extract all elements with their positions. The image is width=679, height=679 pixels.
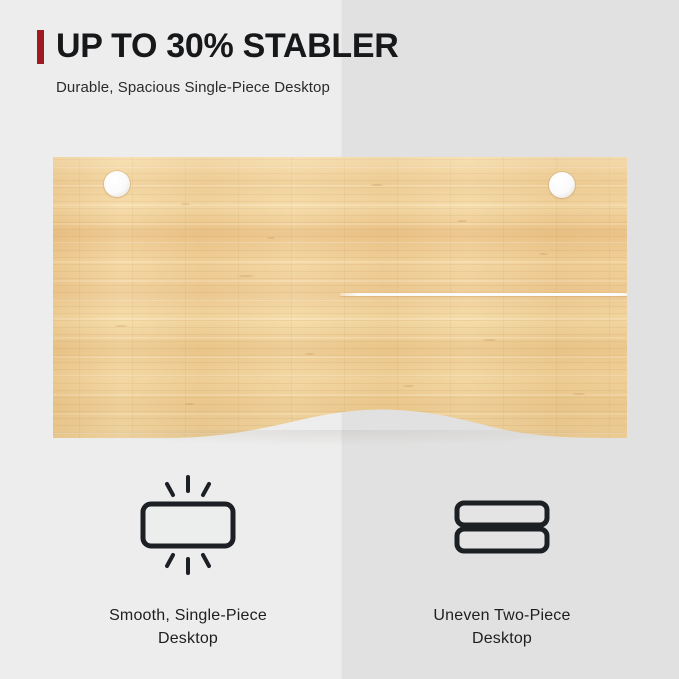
cable-grommet-left (104, 171, 130, 197)
single-panel-shine-icon (48, 470, 328, 580)
cable-grommet-right (549, 172, 575, 198)
grain-fleck (185, 403, 194, 405)
grain-fleck (267, 237, 275, 239)
feature-caption: Smooth, Single-Piece Desktop (48, 604, 328, 650)
two-panel-split-icon (362, 470, 642, 580)
grain-fleck (483, 339, 496, 341)
grain-fleck (403, 385, 414, 387)
two-panel-split-icon-svg (444, 473, 560, 577)
page-title: UP TO 30% STABLER (56, 26, 399, 66)
bamboo-light-overlay (53, 157, 627, 438)
grain-fleck (539, 253, 548, 255)
grain-fleck (181, 203, 190, 205)
grain-fleck (305, 353, 315, 355)
accent-bar (37, 30, 44, 64)
page-subtitle: Durable, Spacious Single-Piece Desktop (56, 78, 330, 98)
feature-caption: Uneven Two-Piece Desktop (362, 604, 642, 650)
two-piece-seam-line (340, 293, 627, 296)
grain-fleck (371, 184, 383, 186)
single-panel-shine-icon-svg (130, 473, 246, 577)
product-comparison-graphic: UP TO 30% STABLER Durable, Spacious Sing… (0, 0, 679, 679)
grain-fleck (239, 275, 253, 277)
grain-fleck (457, 220, 467, 222)
grain-fleck (115, 325, 127, 327)
desktop-panel-shape (53, 157, 627, 438)
grain-fleck (573, 393, 585, 395)
feature-single-piece: Smooth, Single-Piece Desktop (48, 470, 328, 650)
desktop-panel-image (53, 157, 627, 438)
feature-two-piece: Uneven Two-Piece Desktop (362, 470, 642, 650)
